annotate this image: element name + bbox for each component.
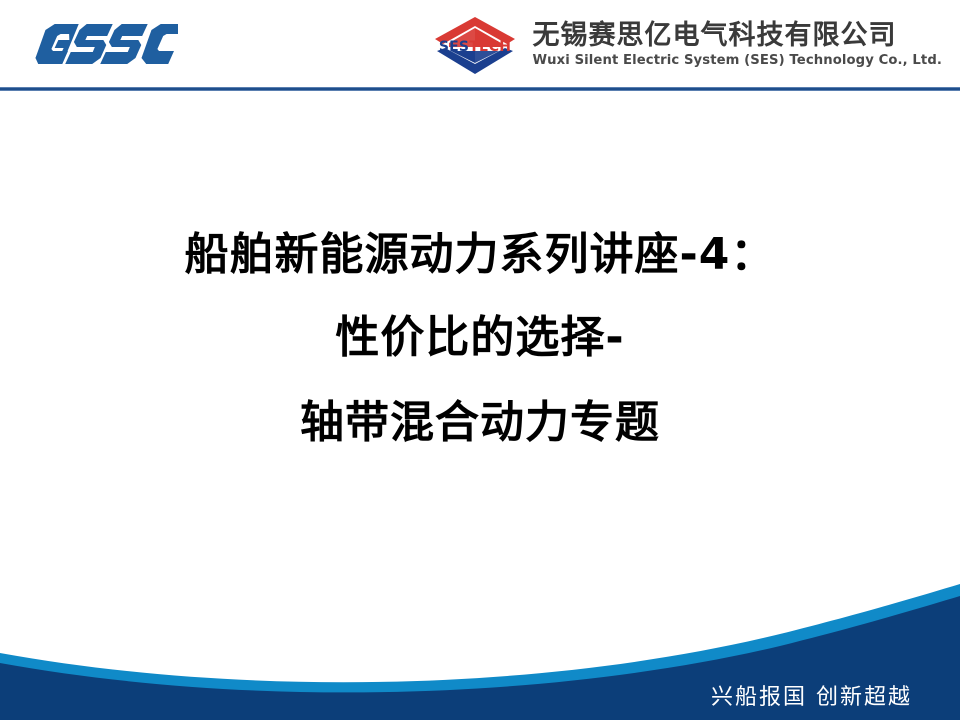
company-name-cn: 无锡赛思亿电气科技有限公司 [533, 22, 942, 49]
title-line-1: 船舶新能源动力系列讲座-4： [0, 215, 960, 295]
company-name-en: Wuxi Silent Electric System (SES) Techno… [533, 54, 942, 67]
header-divider [0, 87, 960, 91]
svg-text:SESTECH: SESTECH [438, 39, 510, 55]
sestech-company-names: 无锡赛思亿电气科技有限公司 Wuxi Silent Electric Syste… [533, 22, 942, 67]
title-line-3: 轴带混合动力专题 [0, 380, 960, 465]
slide-root: SESTECH 无锡赛思亿电气科技有限公司 Wuxi Silent Electr… [0, 0, 960, 720]
sestech-hexagon-icon: SESTECH [429, 14, 521, 76]
footer-slogan: 兴船报国 创新超越 [711, 679, 912, 711]
title-line-2: 性价比的选择- [0, 295, 960, 380]
slide-title-block: 船舶新能源动力系列讲座-4： 性价比的选择- 轴带混合动力专题 [0, 215, 960, 465]
cssc-logo [28, 18, 178, 70]
sestech-logo-block: SESTECH 无锡赛思亿电气科技有限公司 Wuxi Silent Electr… [429, 9, 942, 81]
slide-header: SESTECH 无锡赛思亿电气科技有限公司 Wuxi Silent Electr… [0, 0, 960, 89]
footer-wave-decoration: 兴船报国 创新超越 [0, 580, 960, 720]
